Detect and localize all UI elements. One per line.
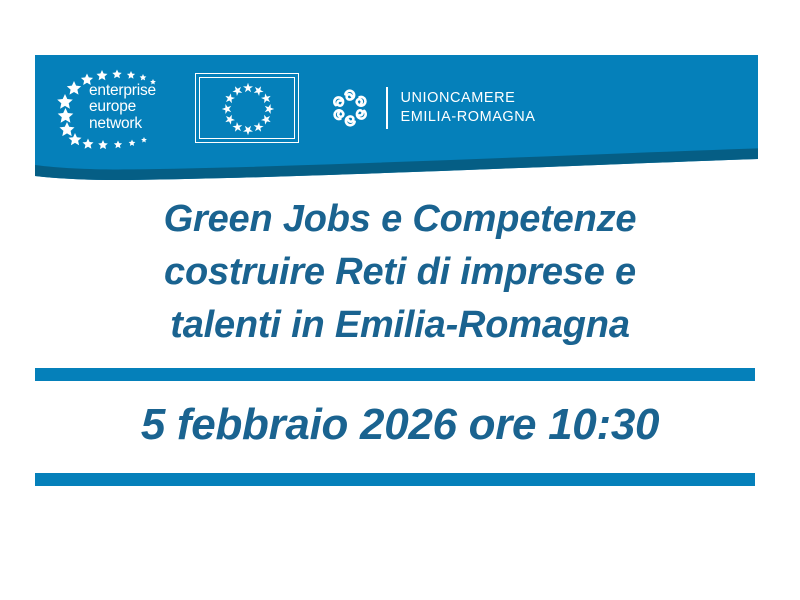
event-date-time: 5 febbraio 2026 ore 10:30 (0, 396, 800, 454)
eu-twelve-stars-icon (196, 74, 300, 144)
unioncamere-line-1: UNIONCAMERE (401, 90, 516, 106)
enterprise-europe-network-logo: enterprise europe network (51, 67, 169, 149)
divider-rule-top (35, 368, 755, 381)
divider-rule-bottom (35, 473, 755, 486)
een-line-3: network (89, 115, 142, 132)
een-line-1: enterprise (89, 82, 156, 99)
page-title: Green Jobs e Competenze costruire Reti d… (0, 193, 800, 352)
unioncamere-divider (386, 87, 388, 129)
een-line-2: europe (89, 98, 136, 115)
title-line-3: talenti in Emilia-Romagna (0, 299, 800, 352)
logo-row: enterprise europe network (35, 55, 758, 160)
unioncamere-line-2: EMILIA-ROMAGNA (401, 108, 536, 127)
title-line-1: Green Jobs e Competenze (0, 193, 800, 246)
unioncamere-swirl-icon (327, 85, 373, 131)
unioncamere-wordmark: UNIONCAMERE EMILIA-ROMAGNA (401, 89, 536, 127)
title-line-2: costruire Reti di imprese e (0, 246, 800, 299)
een-wordmark: enterprise europe network (89, 83, 156, 133)
event-poster: enterprise europe network (0, 0, 800, 600)
eu-flag-logo (195, 73, 299, 143)
unioncamere-logo: UNIONCAMERE EMILIA-ROMAGNA (327, 80, 536, 136)
